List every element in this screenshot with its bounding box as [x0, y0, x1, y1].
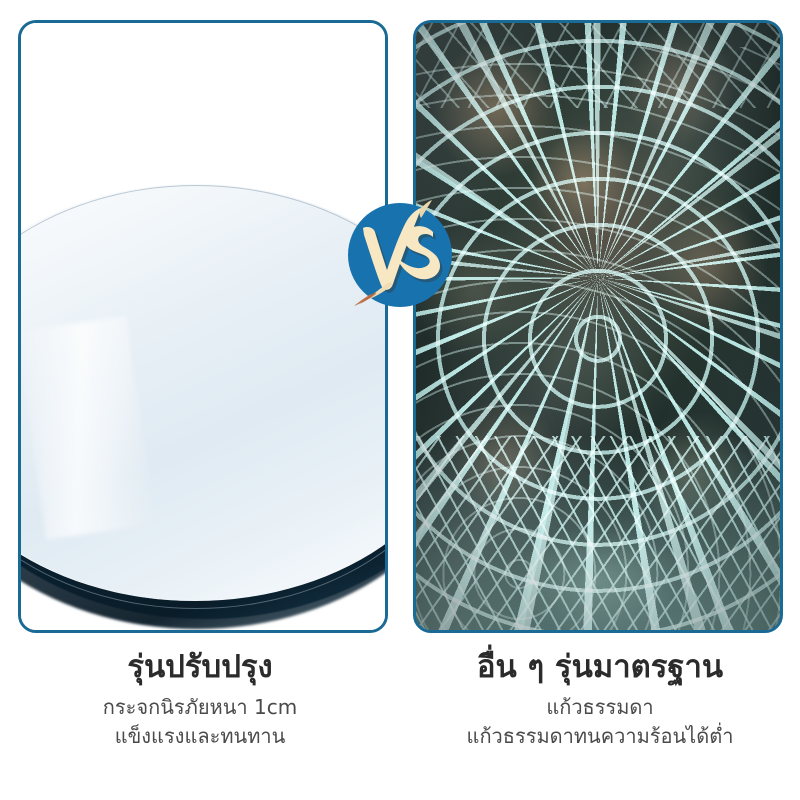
shattered-glass-image: [416, 23, 780, 630]
standard-model-caption: อื่น ๆ รุ่นมาตรฐาน แก้วธรรมดา แก้วธรรมดา…: [400, 648, 800, 751]
standard-model-title: อื่น ๆ รุ่นมาตรฐาน: [400, 648, 800, 687]
standard-model-panel[interactable]: [413, 20, 783, 633]
vs-brush-tail-tip: [354, 294, 371, 306]
improved-model-line-1: กระจกนิรภัยหนา 1cm: [0, 693, 400, 722]
improved-model-panel[interactable]: [18, 20, 388, 633]
improved-model-caption: รุ่นปรับปรุง กระจกนิรภัยหนา 1cm แข็งแรงแ…: [0, 648, 400, 751]
standard-model-line-2: แก้วธรรมดาทนความร้อนได้ต่ำ: [400, 722, 800, 751]
glass-crumbs-top: [416, 23, 780, 108]
tempered-glass-image: [21, 23, 385, 630]
comparison-infographic: รุ่นปรับปรุง กระจกนิรภัยหนา 1cm แข็งแรงแ…: [0, 0, 800, 800]
vs-badge: [347, 202, 453, 308]
standard-model-line-1: แก้วธรรมดา: [400, 693, 800, 722]
glass-crumbs-bottom: [416, 436, 780, 630]
improved-model-line-2: แข็งแรงและทนทาน: [0, 722, 400, 751]
improved-model-title: รุ่นปรับปรุง: [0, 648, 400, 687]
